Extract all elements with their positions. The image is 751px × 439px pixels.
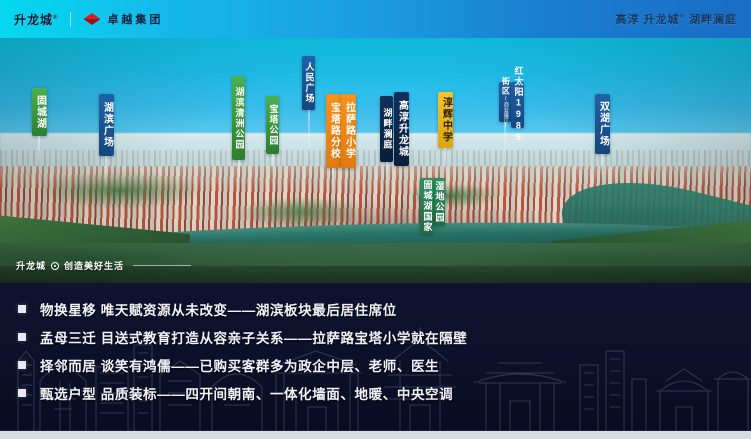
- map-pin-peoples-square[interactable]: 人民广场: [302, 56, 315, 110]
- pin-stem: [386, 162, 387, 190]
- list-item: 择邻而居 谈笑有鸿儒——已购买客群多为政企中层、老师、医生: [18, 351, 751, 379]
- pin-stem: [308, 110, 309, 154]
- aerial-photo: 固城湖 湖滨广场 湖滨清洲公园 宝塔公园 人民广场 宝塔路分校 拉萨路小学 湖畔: [0, 38, 751, 283]
- map-pin-label: 湖滨清洲公园: [234, 87, 243, 150]
- group-lockup[interactable]: 卓越集团: [83, 11, 163, 27]
- pin-stem: [602, 154, 603, 180]
- pin-stem: [272, 154, 273, 178]
- map-pin-chunhui-middle-school[interactable]: 淳辉中学: [438, 92, 453, 148]
- map-pin-label: 湖滨广场: [101, 102, 112, 148]
- selling-point-text: 择邻而居 谈笑有鸿儒——已购买客群多为政企中层、老师、医生: [40, 355, 439, 375]
- list-item: 甄选户型 品质装标——四开间朝南、一体化墙面、地暖、中央空调: [18, 379, 751, 407]
- map-pin-label: 固城湖国家: [422, 180, 431, 233]
- list-item: 物换星移 唯天赋资源从未改变——湖滨板块最后居住席位: [18, 295, 751, 323]
- marketing-poster: 升龙城® 卓越集团 高淳 升龙城® 湖畔澜庭 固城湖 湖滨广场: [0, 0, 751, 439]
- project-title-suffix: 湖畔澜庭: [689, 14, 737, 26]
- map-pin-lakeside-qingzhou-park[interactable]: 湖滨清洲公园: [232, 76, 245, 160]
- map-pin-label: 宝塔公园: [268, 104, 277, 146]
- pin-stem: [238, 160, 239, 188]
- selling-points-panel: 物换星移 唯天赋资源从未改变——湖滨板块最后居住席位 孟母三迁 目送式教育打造从…: [0, 283, 751, 431]
- photo-vignette: [0, 38, 751, 283]
- pin-stem: [39, 136, 40, 170]
- list-item: 孟母三迁 目送式教育打造从容亲子关系——拉萨路宝塔小学就在隔壁: [18, 323, 751, 351]
- map-pin-label: 双湖广场: [597, 101, 608, 147]
- map-pin-shuanghu-plaza[interactable]: 双湖广场: [595, 94, 610, 154]
- map-pin-label: 拉萨路小学: [343, 102, 354, 160]
- selling-points-list: 物换星移 唯天赋资源从未改变——湖滨板块最后居住席位 孟母三迁 目送式教育打造从…: [0, 283, 751, 407]
- map-pin-label: 湿地公园: [434, 181, 443, 223]
- map-pin-block-commercial-hall[interactable]: 街区(商业展厅): [499, 82, 511, 122]
- map-pin-project-brand[interactable]: 高淳升龙城: [394, 92, 409, 166]
- company-logo-text: 升龙城: [14, 13, 53, 27]
- square-bullet-icon: [18, 361, 26, 369]
- map-pin-label: 宝塔路分校: [328, 102, 339, 160]
- project-title: 高淳 升龙城® 湖畔澜庭: [615, 11, 751, 27]
- company-logo[interactable]: 升龙城®: [14, 11, 58, 28]
- map-pin-label: 高淳升龙城: [396, 100, 407, 158]
- map-pin-red-sun-1989[interactable]: 红太阳1989: [511, 82, 524, 128]
- map-pin-label: 淳辉中学: [440, 97, 451, 143]
- group-name: 卓越集团: [107, 11, 163, 27]
- selling-point-text: 物换星移 唯天赋资源从未改变——湖滨板块最后居住席位: [40, 299, 397, 319]
- map-pin-lasa-road-primary-school-branch[interactable]: 拉萨路小学: [341, 94, 356, 168]
- square-bullet-icon: [18, 305, 26, 313]
- page-header: 升龙城® 卓越集团 高淳 升龙城® 湖畔澜庭: [0, 0, 751, 38]
- square-bullet-icon: [18, 389, 26, 397]
- map-pin-lakeside-plaza[interactable]: 湖滨广场: [99, 94, 114, 156]
- registered-mark: ®: [53, 15, 58, 21]
- square-bullet-icon: [18, 333, 26, 341]
- map-pin-label: 固城湖: [34, 95, 45, 130]
- map-pin-label: 红太阳1989: [513, 66, 522, 144]
- map-pin-gucheng-lake[interactable]: 固城湖: [32, 88, 47, 136]
- photo-watermark: 升龙城 创造美好生活: [16, 259, 191, 272]
- map-pin-label: 湖畔澜庭: [382, 108, 391, 150]
- map-pin-project-hupanlanting[interactable]: 湖畔澜庭: [380, 96, 393, 162]
- project-title-brand: 升龙城: [644, 14, 680, 26]
- brand-lockup: 升龙城® 卓越集团: [0, 11, 163, 28]
- map-pin-pagoda-park[interactable]: 宝塔公园: [266, 96, 279, 154]
- watermark-tagline: 创造美好生活: [64, 259, 124, 272]
- project-title-prefix: 高淳: [615, 14, 639, 26]
- selling-point-text: 孟母三迁 目送式教育打造从容亲子关系——拉萨路宝塔小学就在隔壁: [40, 327, 467, 347]
- map-pin-wetland-park[interactable]: 湿地公园: [432, 178, 445, 226]
- location-pin-icon: [51, 262, 59, 270]
- map-pin-gucheng-lake-national[interactable]: 固城湖国家: [420, 178, 433, 234]
- brand-divider: [70, 12, 71, 27]
- pin-stem: [106, 156, 107, 186]
- footer-strip: [0, 431, 751, 439]
- map-pin-label: 街区: [501, 77, 509, 96]
- selling-point-text: 甄选户型 品质装标——四开间朝南、一体化墙面、地暖、中央空调: [40, 383, 453, 403]
- pin-stem: [333, 168, 334, 192]
- diamond-logo-icon: [83, 13, 100, 25]
- watermark-rule: [133, 265, 191, 266]
- project-registered-mark: ®: [680, 14, 685, 20]
- pin-stem: [505, 122, 506, 152]
- pin-stem: [445, 148, 446, 174]
- map-pin-label: 人民广场: [304, 62, 313, 104]
- map-pin-lasa-road-primary-school[interactable]: 宝塔路分校: [326, 94, 341, 168]
- watermark-brand: 升龙城: [16, 259, 46, 272]
